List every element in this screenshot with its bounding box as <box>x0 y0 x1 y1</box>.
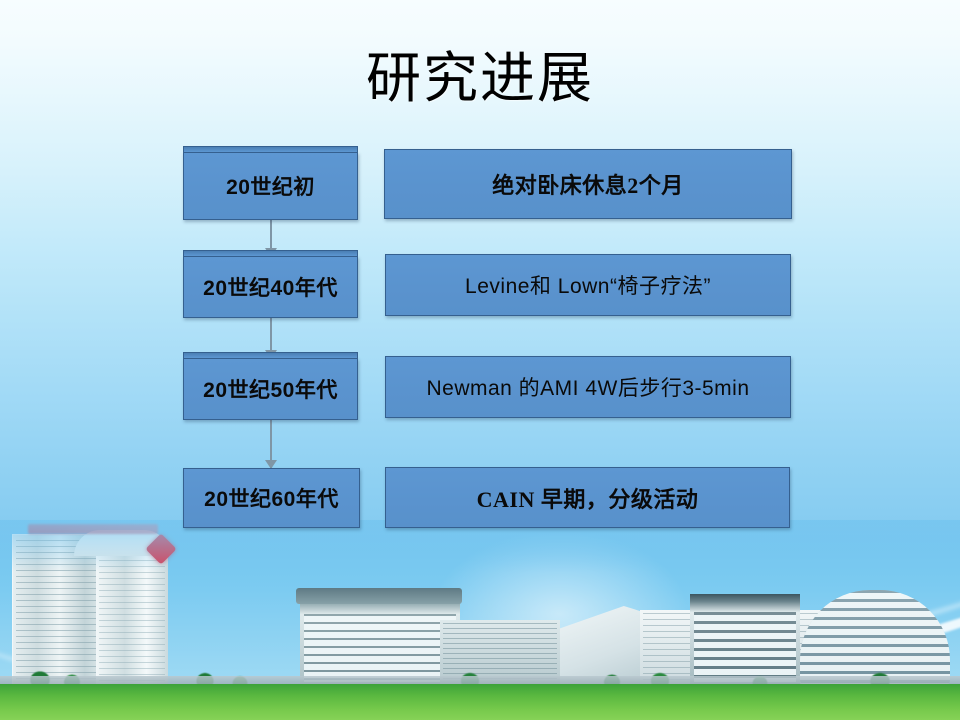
era-box-3-bevel <box>183 352 358 358</box>
cityscape-photo <box>0 520 960 720</box>
era-box-1[interactable]: 20世纪初 <box>183 152 358 220</box>
desc-box-1-label: 绝对卧床休息2个月 <box>492 168 684 200</box>
era-box-2-bevel <box>183 250 358 256</box>
era-box-3-label: 20世纪50年代 <box>203 374 338 404</box>
era-box-2-label: 20世纪40年代 <box>203 272 338 302</box>
era-box-1-bevel <box>183 146 358 152</box>
era-box-1-label: 20世纪初 <box>226 171 315 201</box>
desc-box-2[interactable]: Levine和 Lown“椅子疗法” <box>385 254 791 316</box>
era-box-2[interactable]: 20世纪40年代 <box>183 256 358 318</box>
desc-box-2-label: Levine和 Lown“椅子疗法” <box>465 270 711 300</box>
era-box-3[interactable]: 20世纪50年代 <box>183 358 358 420</box>
connector-arrow-3 <box>264 420 278 468</box>
desc-box-3-label: Newman 的AMI 4W后步行3-5min <box>426 372 749 402</box>
desc-box-4[interactable]: CAIN 早期，分级活动 <box>385 467 790 528</box>
era-box-4[interactable]: 20世纪60年代 <box>183 468 360 528</box>
page-title: 研究进展 <box>0 48 960 110</box>
desc-box-3[interactable]: Newman 的AMI 4W后步行3-5min <box>385 356 791 418</box>
era-box-4-label: 20世纪60年代 <box>204 483 339 513</box>
photo-fade-overlay <box>0 520 960 720</box>
desc-box-1[interactable]: 绝对卧床休息2个月 <box>384 149 792 219</box>
desc-box-4-label: CAIN 早期，分级活动 <box>477 482 699 514</box>
slide-canvas: 研究进展 20世纪初 20世纪40年代 20世纪50年代 20世纪60年代 绝对… <box>0 0 960 720</box>
